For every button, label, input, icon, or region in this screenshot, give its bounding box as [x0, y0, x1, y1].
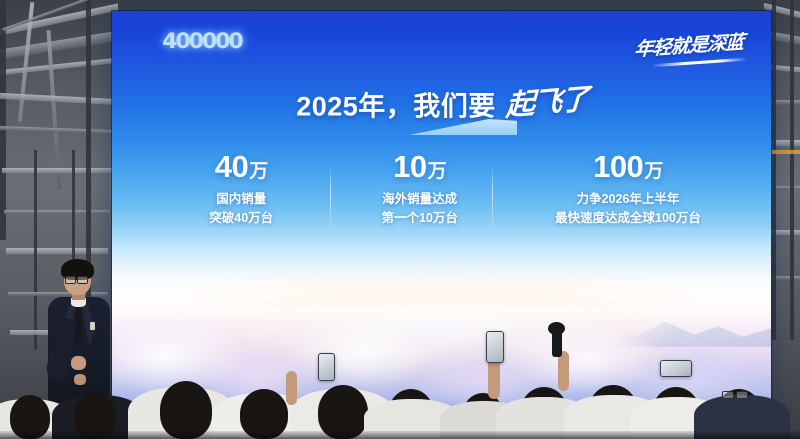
- stat-subtitle-line2: 突破40万台: [156, 209, 326, 228]
- stat-subtitle-line1: 力争2026年上半年: [513, 190, 743, 209]
- headline-script-text: 起飞了: [505, 76, 589, 125]
- stat-number: 40万: [156, 151, 326, 184]
- stat-subtitle-line2: 最快速度达成全球100万台: [513, 209, 743, 228]
- stat-subtitle-line1: 国内销量: [156, 190, 326, 209]
- stat-number-value: 10: [393, 149, 426, 184]
- stat-number-unit: 万: [249, 161, 268, 182]
- presenter-on-stage: [44, 256, 118, 416]
- stat-item-global-target: 100万 力争2026年上半年 最快速度达成全球100万台: [509, 151, 747, 228]
- stat-number: 100万: [513, 151, 743, 184]
- glasses-left-lens-icon: [65, 276, 76, 284]
- stat-number-value: 40: [215, 149, 248, 184]
- calligraphy-tagline: 年轻就是深蓝: [625, 31, 749, 65]
- stat-item-domestic-sales: 40万 国内销量 突破40万台: [152, 151, 330, 228]
- screenshot-stage: 400000 年轻就是深蓝 2025年，我们要起飞了 40万 国内销量 突破40…: [0, 0, 800, 439]
- presenter-hand-lower: [74, 374, 86, 385]
- stat-item-overseas-sales: 10万 海外销量达成 第一个10万台: [330, 151, 508, 228]
- brand-logo: 400000: [162, 29, 241, 53]
- presenter-hand: [71, 356, 86, 370]
- stat-subtitle-line1: 海外销量达成: [334, 190, 504, 209]
- stat-number: 10万: [334, 151, 504, 184]
- stat-number-value: 100: [593, 149, 643, 184]
- presenter-badge: [90, 322, 95, 330]
- stats-row: 40万 国内销量 突破40万台 10万 海外销量达成 第一个10万台 100万 …: [152, 151, 747, 239]
- stat-divider-2: [492, 165, 493, 227]
- stat-number-unit: 万: [428, 161, 447, 182]
- headline-inner: 2025年，我们要起飞了: [296, 83, 587, 125]
- glasses-right-lens-icon: [77, 276, 88, 284]
- calligraphy-tagline-text: 年轻就是深蓝: [633, 27, 744, 61]
- headline-main-text: 2025年，我们要: [296, 92, 496, 122]
- headline: 2025年，我们要起飞了: [112, 83, 771, 125]
- stat-divider-1: [330, 165, 331, 227]
- led-stage-screen: 400000 年轻就是深蓝 2025年，我们要起飞了 40万 国内销量 突破40…: [112, 11, 771, 420]
- stat-subtitle-line2: 第一个10万台: [334, 209, 504, 228]
- stat-number-unit: 万: [644, 161, 663, 182]
- cloud-sea: [112, 306, 771, 420]
